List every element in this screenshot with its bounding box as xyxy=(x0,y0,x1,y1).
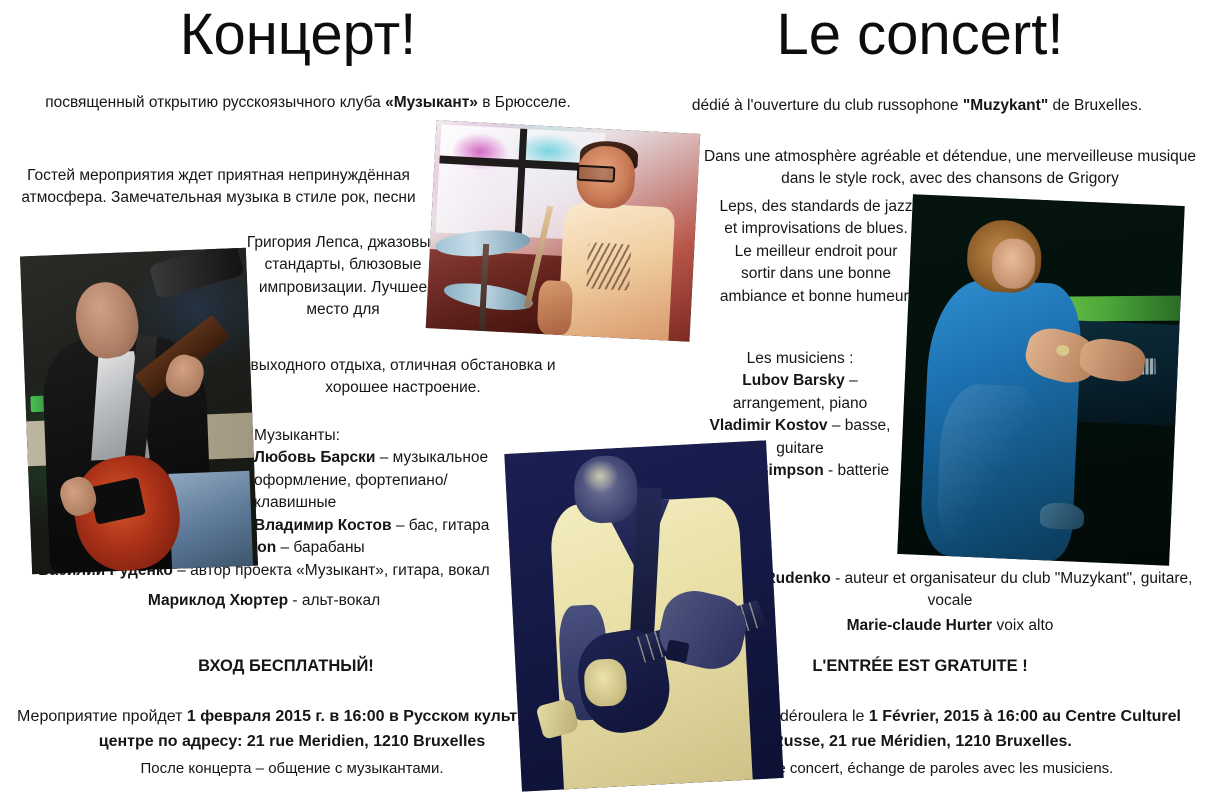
russian-musician-row: Владимир Костов – бас, гитара xyxy=(254,515,520,537)
musician-name: Marie-claude Hurter xyxy=(847,617,993,634)
musician-role: - auteur et organisateur du club "Muzyka… xyxy=(831,570,1193,609)
french-musicians-heading: Les musiciens : xyxy=(700,348,900,370)
musician-name: Владимир Костов xyxy=(254,517,396,534)
russian-free-entry: ВХОД БЕСПЛАТНЫЙ! xyxy=(0,655,572,679)
photo-drummer xyxy=(426,120,701,342)
musician-name: Любовь Барски xyxy=(254,449,375,466)
musician-name: Vladimir Kostov xyxy=(710,417,828,434)
musician-name: Lubov Barsky xyxy=(742,372,845,389)
french-musician-row: Lubov Barsky – arrangement, piano xyxy=(700,370,900,415)
russian-subtitle-part1: посвященный открытию русскоязычного клуб… xyxy=(45,94,385,111)
french-intro-narrow: Leps, des standards de jazz et improvisa… xyxy=(716,196,916,308)
photo-bassist xyxy=(504,440,783,791)
russian-intro-middle: Григория Лепса, джазовые стандарты, блюз… xyxy=(243,232,443,322)
french-subtitle: dédié à l'ouverture du club russophone "… xyxy=(627,95,1207,117)
photo-guitarist xyxy=(20,248,258,574)
musician-role: - альт-вокал xyxy=(288,592,380,609)
musician-role: - batterie xyxy=(824,462,889,479)
russian-subtitle: посвященный открытию русскоязычного клуб… xyxy=(28,92,588,114)
musician-name: Мариклод Хюртер xyxy=(148,592,288,609)
french-title: Le concert! xyxy=(607,6,1213,64)
russian-musicians-heading: Музыканты: xyxy=(254,425,520,447)
russian-musician-row: Мариклод Хюртер - альт-вокал xyxy=(8,590,520,612)
musician-role: – бас, гитара xyxy=(396,517,490,534)
russian-club-name: «Музыкант» xyxy=(385,94,478,111)
russian-footer: Мероприятие пройдет 1 февраля 2015 г. в … xyxy=(6,705,578,780)
russian-footer-after: После концерта – общение с музыкантами. xyxy=(6,757,578,780)
photo-pianist xyxy=(897,194,1184,566)
russian-musician-row: Любовь Барски – музыкальное оформление, … xyxy=(254,447,516,514)
russian-title: Концерт! xyxy=(0,6,606,64)
russian-intro-middle-2: выходного отдыха, отличная обстановка и … xyxy=(243,355,563,400)
french-club-name: "Muzykant" xyxy=(963,97,1048,114)
french-subtitle-part1: dédié à l'ouverture du club russophone xyxy=(692,97,963,114)
russian-footer-lead: Мероприятие пройдет xyxy=(17,708,187,725)
musician-role: – барабаны xyxy=(276,539,364,556)
concert-poster: Концерт! посвященный открытию русскоязыч… xyxy=(0,0,1213,798)
russian-intro-paragraph: Гостей мероприятия ждет приятная неприну… xyxy=(6,165,431,210)
french-intro-wide: Dans une atmosphère agréable et détendue… xyxy=(700,146,1200,191)
musician-role: voix alto xyxy=(992,617,1053,634)
french-subtitle-part2: de Bruxelles. xyxy=(1048,97,1142,114)
russian-subtitle-part2: в Брюсселе. xyxy=(478,94,571,111)
